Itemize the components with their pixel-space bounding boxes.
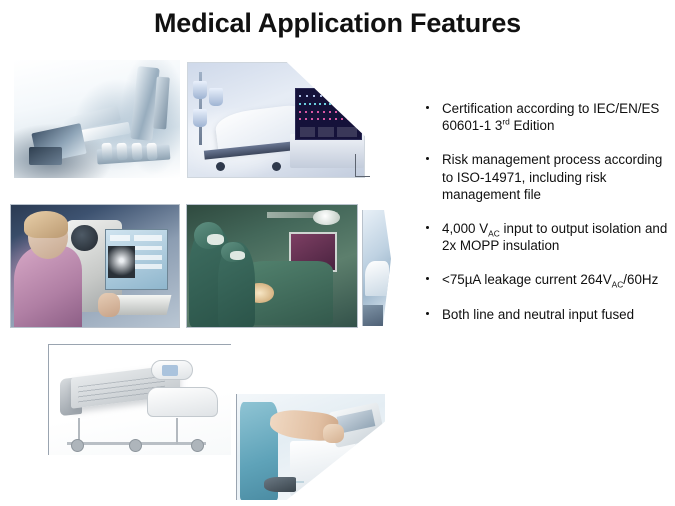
page-title: Medical Application Features [0, 8, 675, 39]
iv-bag [193, 81, 207, 99]
photo-ophthalmic-imaging-exam [10, 204, 180, 328]
iv-bag [209, 88, 223, 106]
bed-control-pad [162, 365, 178, 376]
photo-hospital-bed [48, 344, 231, 455]
photo-icu-bed-patient-monitor [187, 62, 365, 178]
bullet-text-run: Both line and neutral input fused [442, 307, 634, 322]
slide: Medical Application Features [0, 0, 675, 506]
bullet-text-run: Risk management process according to ISO… [442, 152, 662, 201]
lab-instrument-arm-secondary [153, 76, 170, 129]
photo-operating-theatre [186, 204, 358, 328]
photo-clipped-device-sliver [362, 210, 391, 326]
bullet-marker-icon [426, 312, 429, 315]
bed-strut [176, 418, 178, 444]
photo-nurse-touch-panel [236, 394, 385, 500]
monitor-waveform [299, 111, 359, 113]
bullet-item-leakage-current: <75µA leakage current 264VAC/60Hz [420, 271, 668, 288]
bullet-text-run: <75µA leakage current 264V [442, 272, 612, 287]
sample-vial [146, 142, 157, 159]
bullet-marker-icon [426, 157, 429, 160]
patient-monitor-screen [295, 88, 362, 140]
bed-castor [71, 439, 84, 452]
monitor-waveform [299, 95, 359, 97]
microscope-base [29, 147, 62, 165]
surgical-lamp [313, 210, 340, 225]
bullet-item-certification: Certification according to IEC/EN/ES 606… [420, 100, 668, 134]
photo-clipped-device-image [363, 210, 391, 326]
feature-bullet-list: Certification according to IEC/EN/ES 606… [420, 100, 668, 340]
photo-nurse-touch-panel-image [237, 394, 385, 500]
bullet-item-text: Risk management process according to ISO… [442, 152, 662, 201]
display-cell [134, 255, 162, 260]
bullet-item-text: 4,000 VAC input to output isolation and … [442, 221, 667, 253]
sample-vial [131, 142, 142, 159]
bullet-text-run: rd [502, 117, 509, 127]
monitor-numeric [300, 127, 316, 137]
monitor-waveform [299, 103, 359, 105]
iv-bag [193, 109, 207, 127]
display-cell [134, 246, 162, 251]
surgical-mask [230, 251, 245, 260]
bullet-item-text: <75µA leakage current 264VAC/60Hz [442, 272, 658, 287]
bullet-item-isolation: 4,000 VAC input to output isolation and … [420, 220, 668, 254]
patient-hand [98, 293, 120, 317]
bullet-marker-icon [426, 226, 429, 229]
photo-laboratory-equipment [14, 60, 180, 178]
bullet-text-run: Edition [510, 118, 555, 133]
monitor-waveform [299, 118, 359, 120]
photo-icu-image [188, 63, 364, 177]
display-scan-image [108, 246, 135, 278]
photo-hospital-bed-image [49, 345, 231, 455]
bullet-item-risk-management: Risk management process according to ISO… [420, 151, 668, 203]
surgical-mask [207, 234, 224, 245]
photo-operating-theatre-image [187, 205, 357, 327]
bullet-item-text: Both line and neutral input fused [442, 307, 634, 322]
bullet-text-run: /60Hz [623, 272, 658, 287]
bullet-marker-icon [426, 106, 429, 109]
device-headrest [365, 261, 390, 296]
bed-wheel [272, 162, 281, 171]
monitor-numeric [337, 127, 357, 137]
patient-hair [24, 211, 68, 238]
bullet-text-run: 4,000 V [442, 221, 488, 236]
device-base [363, 305, 383, 326]
bullet-item-fusing: Both line and neutral input fused [420, 306, 668, 323]
bullet-item-text: Certification according to IEC/EN/ES 606… [442, 101, 659, 133]
image-collage [0, 52, 400, 464]
sample-vial [116, 142, 127, 159]
bullet-marker-icon [426, 277, 429, 280]
photo-laboratory-equipment-image [14, 60, 180, 178]
display-cell [134, 264, 162, 269]
sample-vial [101, 142, 112, 159]
monitor-numeric [318, 127, 334, 137]
bed-wheel [216, 162, 225, 171]
bullet-text-run: AC [612, 280, 624, 290]
display-cell [110, 235, 131, 241]
nurse-hand [323, 424, 344, 443]
equipment-shadow-detail [264, 477, 297, 492]
bed-castor [191, 439, 204, 452]
photo-ophthalmic-image [11, 205, 179, 327]
display-cell [134, 235, 162, 241]
bed-castor [129, 439, 142, 452]
crop-corner-mark-icon [355, 154, 370, 177]
